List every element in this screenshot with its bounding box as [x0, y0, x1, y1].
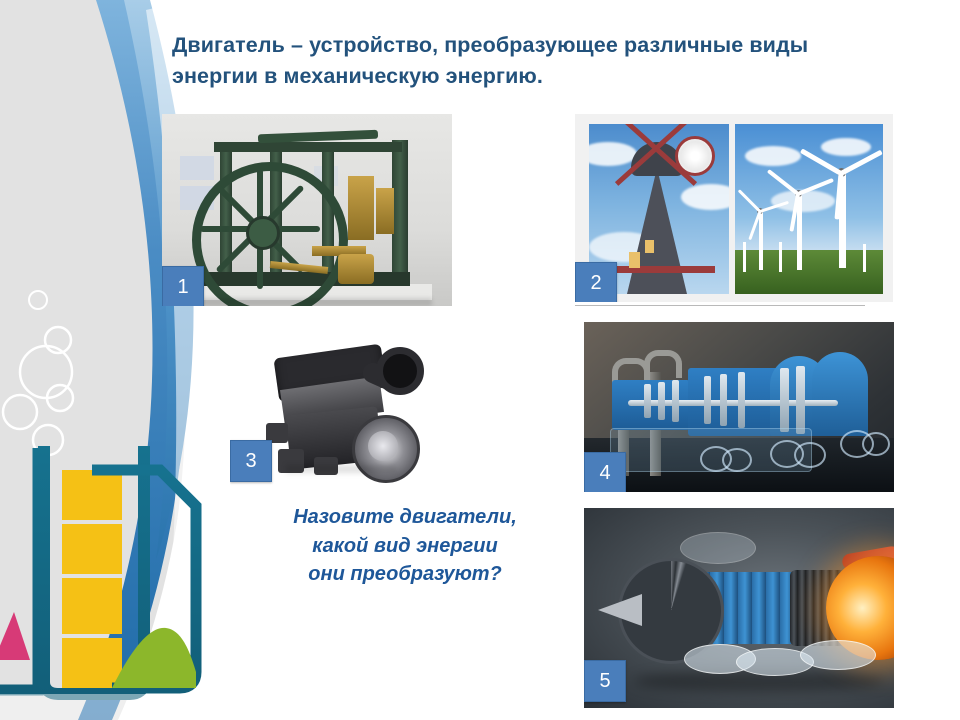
- figure-badge-5: 5: [584, 660, 626, 702]
- wall-placard: [180, 156, 214, 180]
- engine-top-beam: [214, 142, 402, 152]
- divider-line: [575, 305, 865, 306]
- figure-1-steam-engine[interactable]: 1: [162, 114, 452, 306]
- turbine-rotor-disc: [672, 380, 679, 422]
- turbine-tower: [759, 212, 763, 270]
- slide-title: Двигатель – устройство, преобразующее ра…: [172, 30, 872, 91]
- figure-3-car-engine[interactable]: 3: [230, 337, 480, 489]
- turbine-ghost-ring: [862, 432, 890, 456]
- brass-cylinder: [376, 188, 394, 234]
- turbine-rotor-disc: [780, 368, 789, 432]
- turbine-tower-far: [743, 242, 746, 272]
- question-text: Назовите двигатели, какой вид энергии он…: [255, 503, 555, 589]
- presentation-slide: Двигатель – устройство, преобразующее ра…: [0, 0, 960, 720]
- figure-badge-2: 2: [575, 262, 617, 302]
- turbine-lp-dome: [812, 352, 868, 436]
- brass-cylinder: [348, 176, 374, 240]
- turbine-rotor-disc: [796, 366, 805, 434]
- windmill-window: [645, 240, 654, 253]
- engine-shadow: [286, 465, 396, 473]
- figure-badge-1: 1: [162, 266, 204, 306]
- turbine-tower-far: [779, 242, 782, 272]
- figure-2-wind-power[interactable]: 2: [575, 114, 893, 302]
- figure-5-jet-engine[interactable]: 5: [584, 508, 894, 708]
- flywheel-hub: [246, 216, 280, 250]
- engine-column: [392, 140, 408, 272]
- turbine-rotor-disc: [644, 384, 651, 418]
- question-line-2: какой вид энергии: [255, 532, 555, 561]
- turbine-blade: [738, 189, 761, 212]
- turbine-tower-far: [863, 244, 866, 272]
- engine-shadow: [182, 298, 432, 306]
- title-line-1: Двигатель – устройство, преобразующее ра…: [172, 33, 808, 57]
- jet-cowling-ghost: [800, 640, 876, 670]
- turbine-rotor-disc: [658, 382, 665, 420]
- engine-intake-port: [376, 347, 424, 395]
- wind-turbines-photo: [735, 124, 883, 294]
- turbine-ghost-ring: [794, 442, 826, 468]
- figure-badge-3: 3: [230, 440, 272, 482]
- turbine-rotor-disc: [720, 374, 727, 426]
- windmill-fantail: [675, 136, 715, 176]
- windmill-window: [629, 252, 640, 268]
- turbine-rotor-disc: [738, 372, 745, 428]
- turbine-field-grass: [735, 250, 883, 294]
- brass-pump: [338, 254, 374, 284]
- figure-4-steam-turbine[interactable]: 4: [584, 322, 894, 492]
- engine-flywheel-center: [368, 431, 398, 461]
- turbine-exhaust-hook: [644, 350, 682, 378]
- turbine-rotor-disc: [704, 376, 711, 424]
- figure-badge-4: 4: [584, 452, 626, 492]
- question-line-1: Назовите двигатели,: [255, 503, 555, 532]
- title-line-2: энергии в механическую энергию.: [172, 61, 872, 92]
- question-line-3: они преобразуют?: [255, 560, 555, 589]
- jet-nose-cone: [598, 594, 642, 626]
- windmill-tower: [627, 168, 687, 294]
- turbine-ghost-ring: [722, 448, 752, 472]
- jet-cowling-ghost: [680, 532, 756, 564]
